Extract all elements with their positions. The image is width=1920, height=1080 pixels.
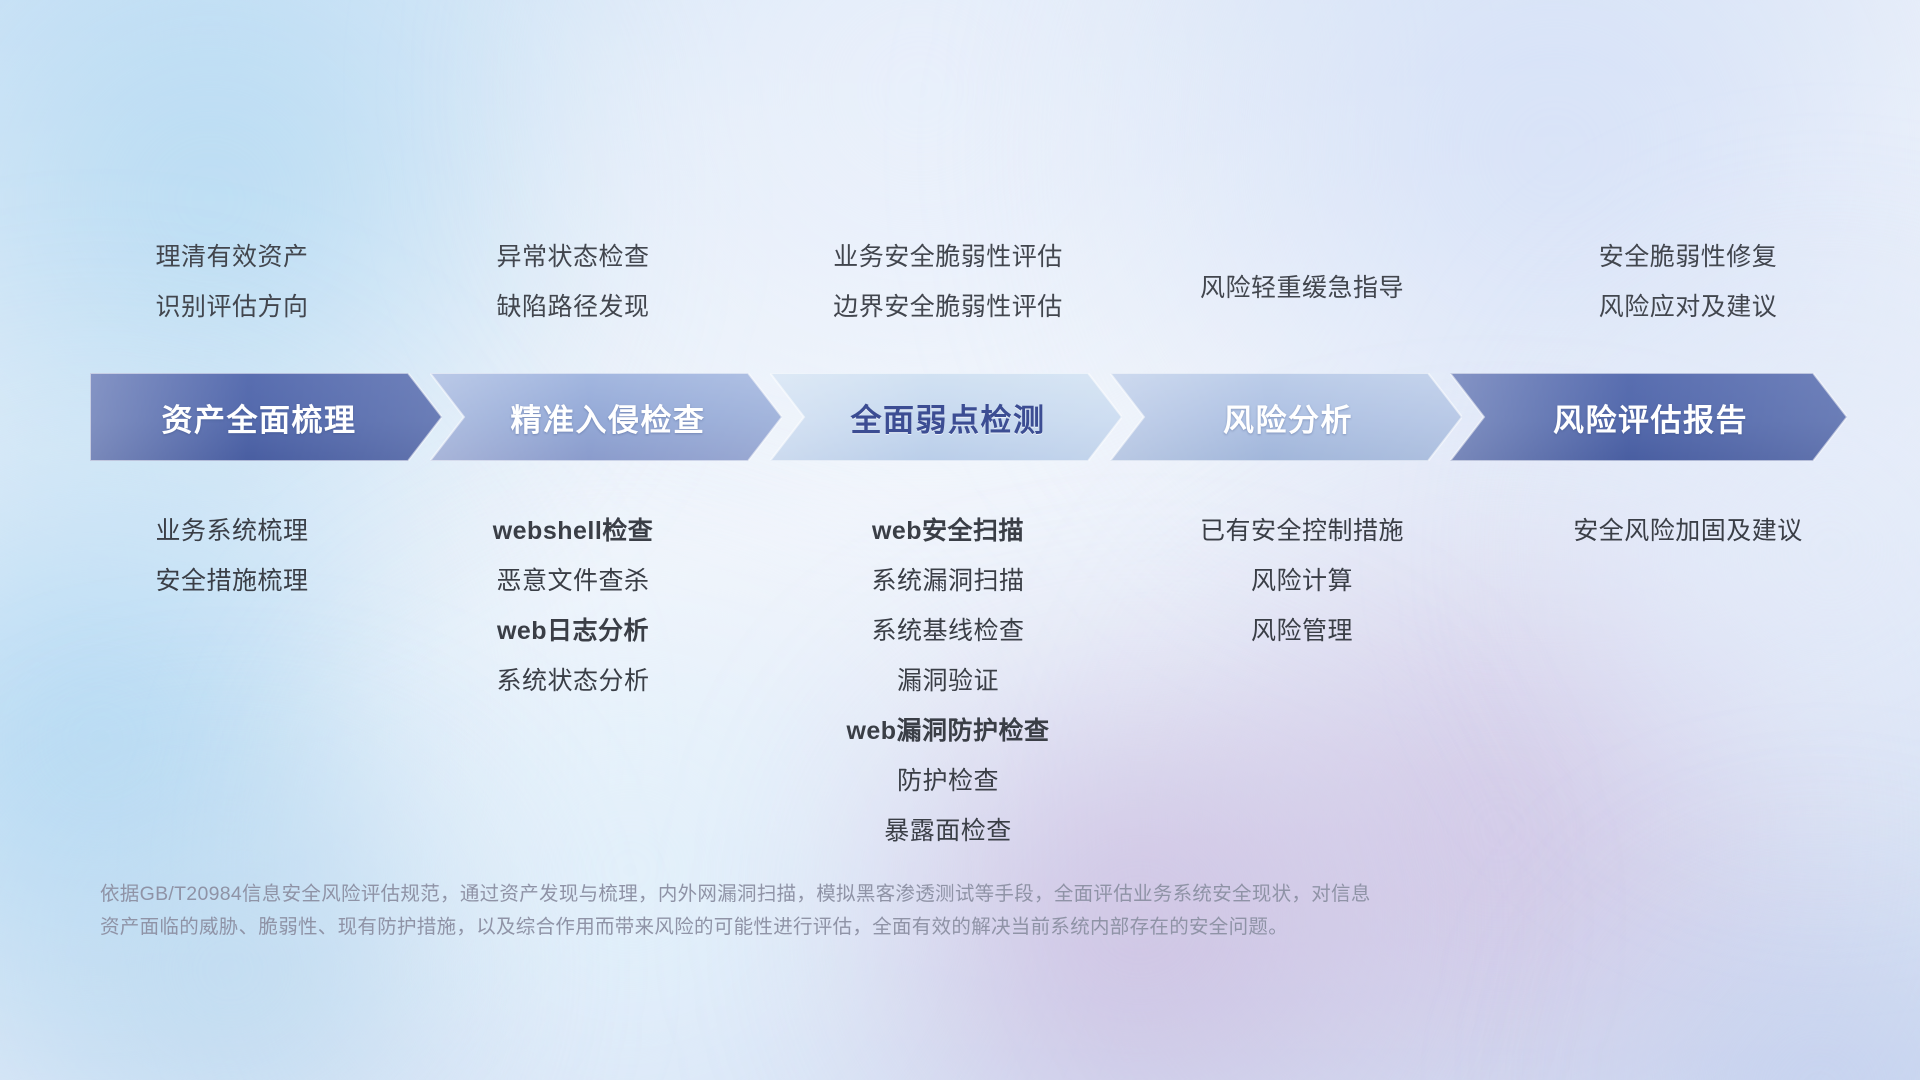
- stage-arrow-intrusion-check[interactable]: 精准入侵检查: [430, 373, 782, 461]
- bottom-descriptor-column-assessment-report: 安全风险加固及建议: [1388, 506, 1920, 556]
- top-descriptor-item: 安全脆弱性修复: [1388, 232, 1920, 282]
- footer-line-1: 依据GB/T20984信息安全风险评估规范，通过资产发现与梳理，内外网漏洞扫描，…: [100, 878, 1660, 911]
- stage-arrow-label: 全面弱点检测: [851, 395, 1046, 440]
- bottom-descriptor-item: 风险管理: [1002, 606, 1602, 656]
- top-descriptor-column-assessment-report: 安全脆弱性修复风险应对及建议: [1388, 232, 1920, 332]
- footer-description: 依据GB/T20984信息安全风险评估规范，通过资产发现与梳理，内外网漏洞扫描，…: [100, 878, 1660, 944]
- bottom-descriptor-item: 防护检查: [648, 756, 1248, 806]
- bottom-descriptor-item: 暴露面检查: [648, 806, 1248, 856]
- stage-arrow-band: 资产全面梳理 精准入侵检查: [90, 373, 1847, 461]
- footer-line-2: 资产面临的威胁、脆弱性、现有防护措施，以及综合作用而带来风险的可能性进行评估，全…: [100, 911, 1660, 944]
- bottom-descriptor-item: 漏洞验证: [648, 656, 1248, 706]
- bottom-descriptor-item: web漏洞防护检查: [648, 706, 1248, 756]
- stage-arrow-label: 风险评估报告: [1553, 395, 1748, 440]
- bottom-descriptor-item: 安全风险加固及建议: [1388, 506, 1920, 556]
- stage-arrow-label: 精准入侵检查: [511, 395, 706, 440]
- process-diagram: 理清有效资产识别评估方向异常状态检查缺陷路径发现业务安全脆弱性评估边界安全脆弱性…: [0, 0, 1920, 1080]
- bottom-descriptor-item: 风险计算: [1002, 556, 1602, 606]
- stage-arrow-asset-review[interactable]: 资产全面梳理: [90, 373, 442, 461]
- top-descriptor-item: 风险应对及建议: [1388, 282, 1920, 332]
- stage-arrow-label: 风险分析: [1223, 395, 1353, 440]
- stage-arrow-weakness-detection[interactable]: 全面弱点检测: [770, 373, 1122, 461]
- stage-arrow-label: 资产全面梳理: [162, 395, 357, 440]
- stage-arrow-assessment-report[interactable]: 风险评估报告: [1450, 373, 1847, 461]
- stage-arrow-risk-analysis[interactable]: 风险分析: [1110, 373, 1462, 461]
